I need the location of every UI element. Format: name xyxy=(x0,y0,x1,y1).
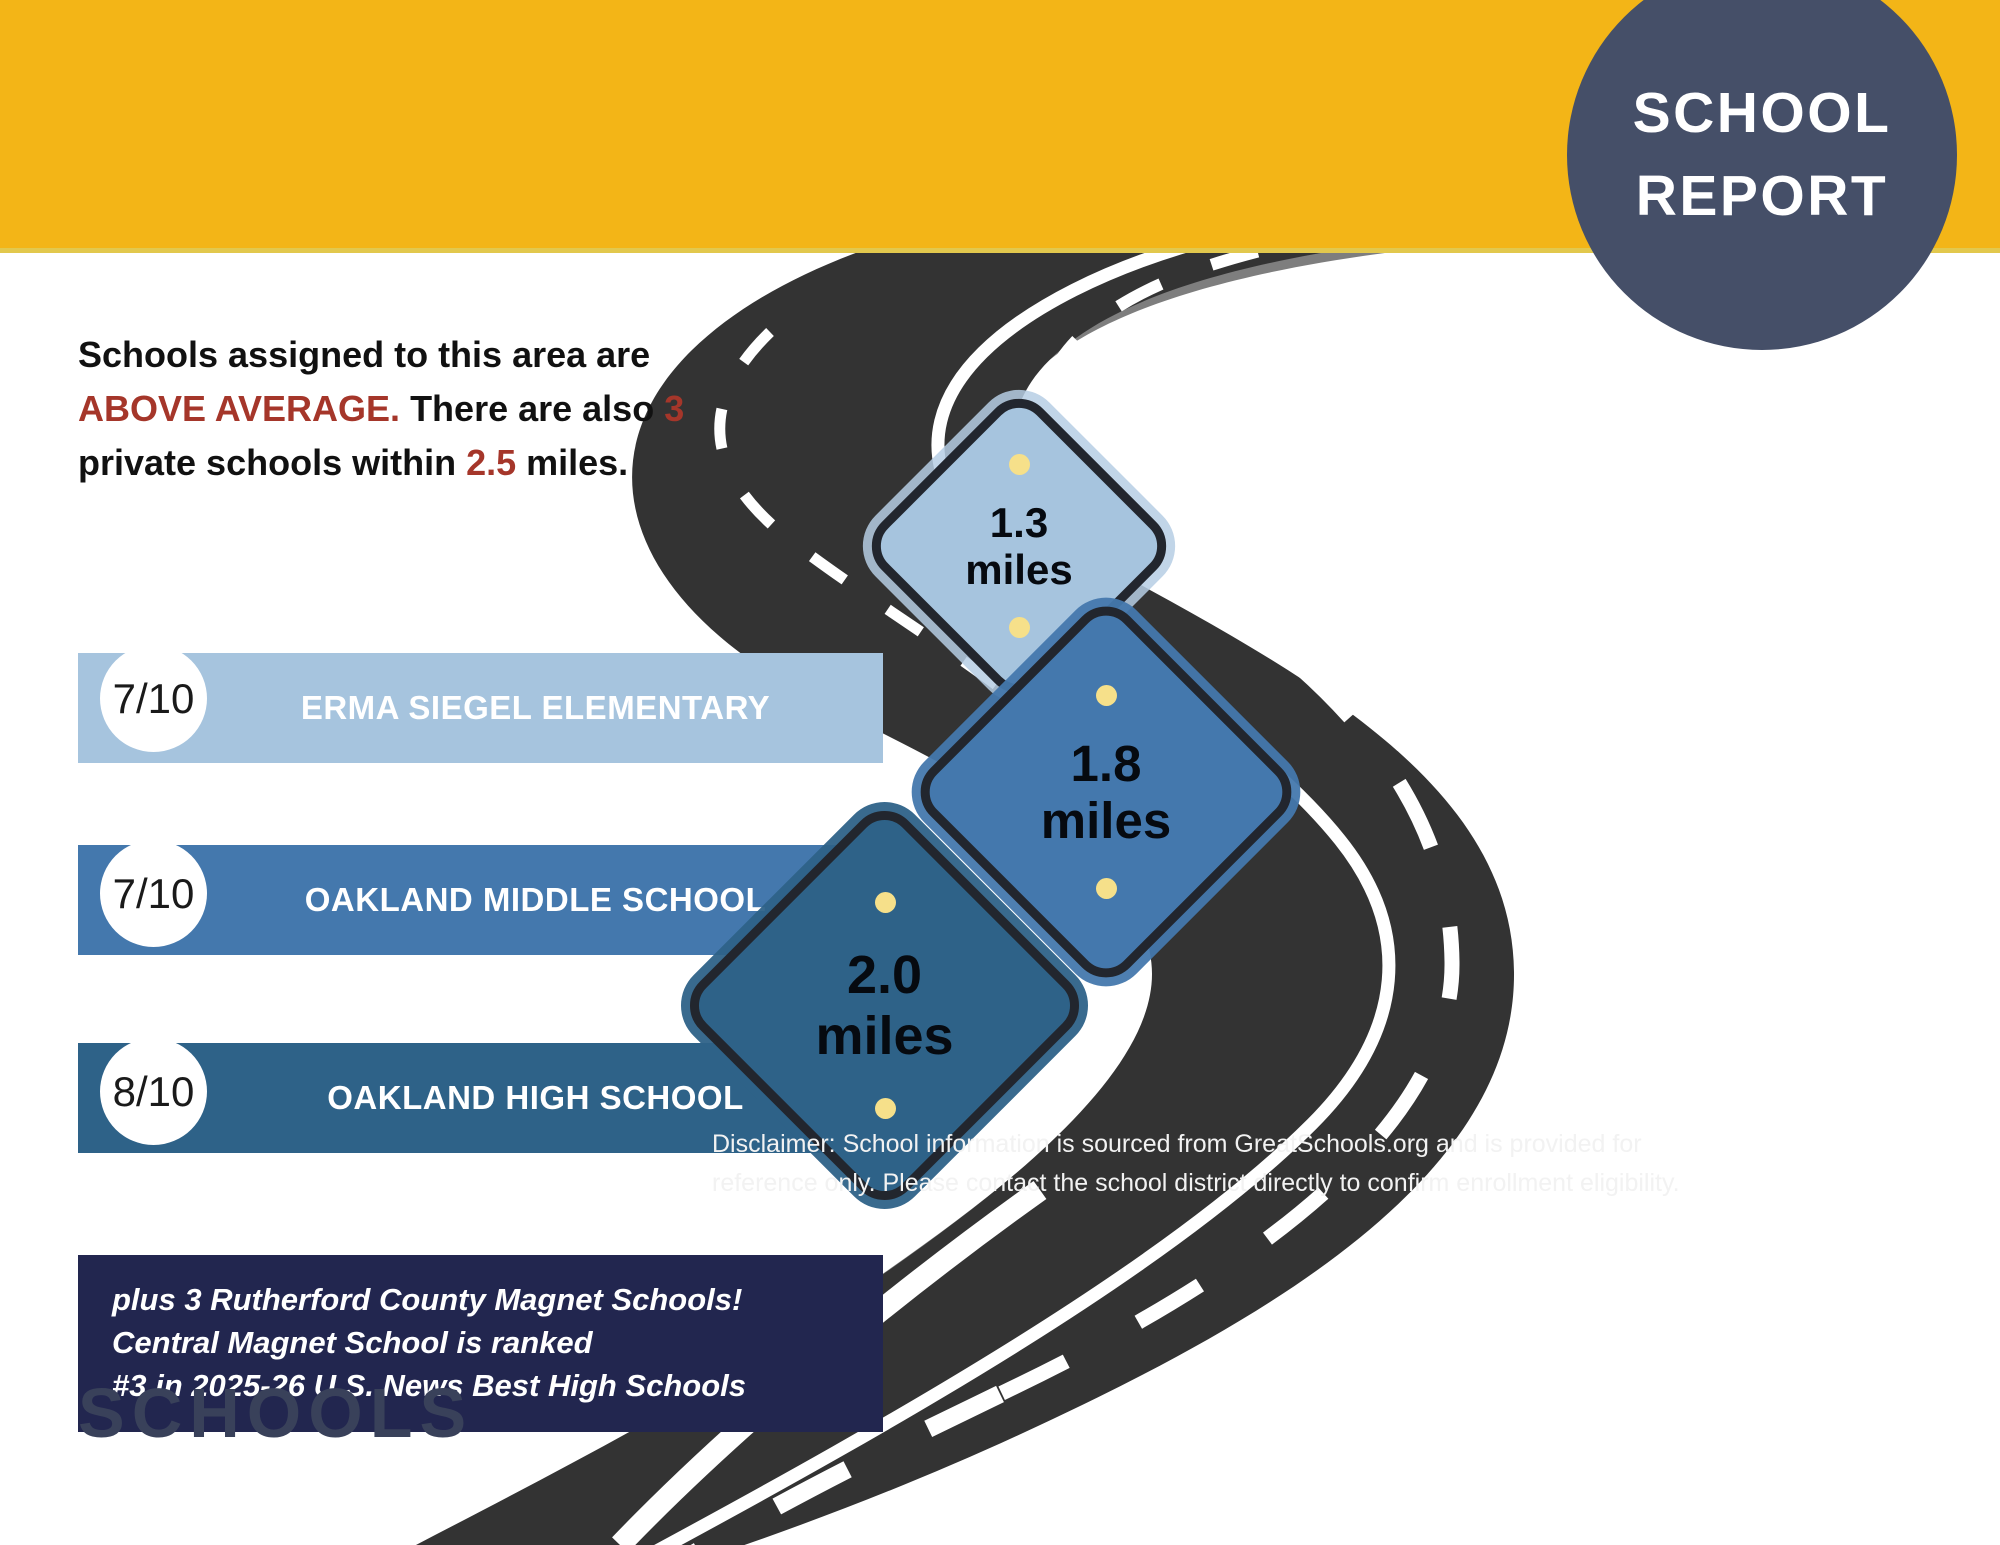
badge-line-2: REPORT xyxy=(1636,168,1889,225)
sign-distance-unit: miles xyxy=(965,546,1072,593)
intro-text-4: miles. xyxy=(516,442,628,483)
intro-highlight-above-average: ABOVE AVERAGE. xyxy=(78,388,400,429)
disclaimer-line-2: reference only. Please contact the schoo… xyxy=(712,1164,1992,1203)
disclaimer-line-1: Disclaimer: School information is source… xyxy=(712,1125,1992,1164)
disclaimer-text: Disclaimer: School information is source… xyxy=(712,1125,1992,1203)
sign-text: 1.3 miles xyxy=(965,499,1072,593)
infographic-page: The Villas at Regal Square SCHOOL REPORT… xyxy=(0,0,2000,1545)
sign-distance-unit: miles xyxy=(815,1006,953,1066)
sign-bolt-icon xyxy=(1096,685,1117,706)
sign-text: 2.0 miles xyxy=(815,945,953,1066)
sign-bolt-icon xyxy=(875,1098,896,1119)
school-score-badge: 7/10 xyxy=(100,840,207,947)
sign-distance-value: 2.0 xyxy=(815,945,953,1005)
intro-text-3: private schools within xyxy=(78,442,466,483)
school-name-label: OAKLAND HIGH SCHOOL xyxy=(177,1079,784,1117)
intro-highlight-radius: 2.5 xyxy=(466,442,516,483)
school-name-label: ERMA SIEGEL ELEMENTARY xyxy=(151,689,810,727)
intro-paragraph: Schools assigned to this area are ABOVE … xyxy=(78,328,778,490)
sign-bolt-icon xyxy=(1009,454,1030,475)
school-rating-row[interactable]: ERMA SIEGEL ELEMENTARY 7/10 xyxy=(78,653,883,763)
sign-text: 1.8 miles xyxy=(1041,735,1171,849)
magnet-note-line-2: Central Magnet School is ranked xyxy=(112,1322,849,1365)
sign-bolt-icon xyxy=(1009,617,1030,638)
school-score-badge: 8/10 xyxy=(100,1038,207,1145)
sign-bolt-icon xyxy=(875,892,896,913)
school-name-label: OAKLAND MIDDLE SCHOOL xyxy=(155,881,806,919)
school-score-badge: 7/10 xyxy=(100,645,207,752)
intro-text-2: There are also xyxy=(400,388,664,429)
schools-wordmark: SCHOOLS xyxy=(78,1373,473,1453)
intro-highlight-private-count: 3 xyxy=(664,388,684,429)
sign-distance-value: 1.3 xyxy=(965,499,1072,546)
sign-distance-value: 1.8 xyxy=(1041,735,1171,792)
badge-line-1: SCHOOL xyxy=(1633,85,1892,142)
sign-distance-unit: miles xyxy=(1041,792,1171,849)
magnet-note-line-1: plus 3 Rutherford County Magnet Schools! xyxy=(112,1279,849,1322)
distance-sign: 2.0 miles xyxy=(737,858,1032,1153)
intro-text-1: Schools assigned to this area are xyxy=(78,334,650,375)
sign-bolt-icon xyxy=(1096,878,1117,899)
